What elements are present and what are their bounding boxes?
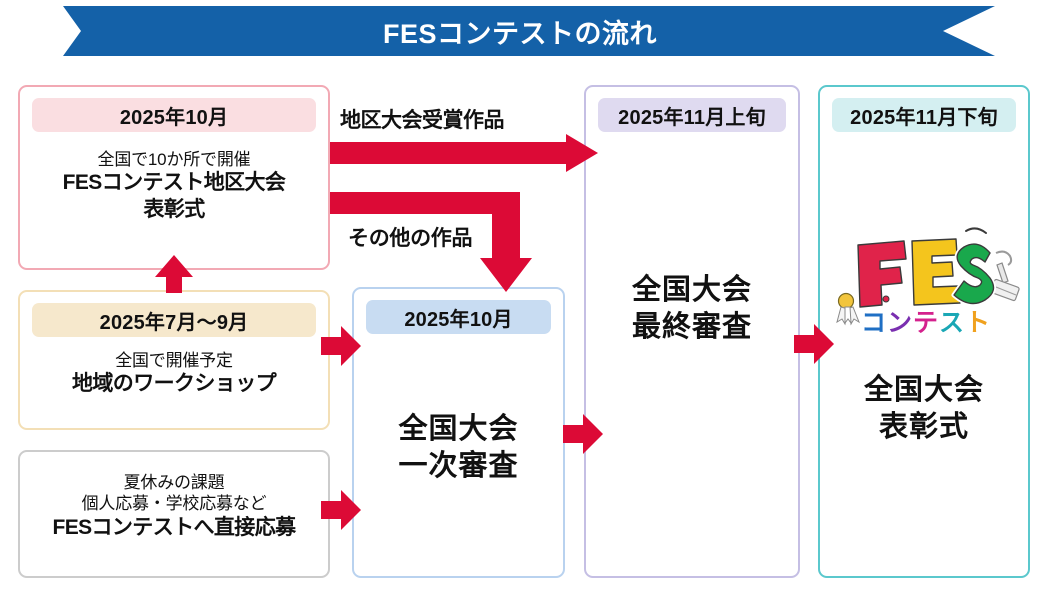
arrow-regional-to-final-review <box>330 134 598 178</box>
card-workshop-body: 全国で開催予定 地域のワークショップ <box>26 350 322 398</box>
card-workshop[interactable]: 2025年7月〜9月 全国で開催予定 地域のワークショップ <box>18 290 330 430</box>
card-regional-date-badge: 2025年10月 <box>32 98 316 132</box>
card-award-ceremony-date-badge: 2025年11月下旬 <box>832 98 1016 132</box>
card-regional-subtitle: 全国で10か所で開催 <box>26 149 322 170</box>
arrow-direct-entry-to-first-review <box>321 490 361 530</box>
card-workshop-title: 地域のワークショップ <box>26 371 322 397</box>
title-banner: FESコンテストの流れ <box>63 6 995 56</box>
arrow-regional-to-first-review <box>330 192 542 292</box>
card-final-review-body: 全国大会 最終審査 <box>592 272 792 345</box>
card-direct-entry-subtitle-line2: 個人応募・学校応募など <box>26 493 322 514</box>
card-workshop-date-badge: 2025年7月〜9月 <box>32 303 316 337</box>
card-regional-body: 全国で10か所で開催 FESコンテスト地区大会 表彰式 <box>26 149 322 223</box>
card-final-review[interactable]: 2025年11月上旬 全国大会 最終審査 <box>584 85 800 578</box>
card-final-review-date-badge: 2025年11月上旬 <box>598 98 786 132</box>
card-award-ceremony-title-line1: 全国大会 <box>826 372 1022 409</box>
card-final-review-title-line2: 最終審査 <box>592 309 792 346</box>
card-first-review[interactable]: 2025年10月 全国大会 一次審査 <box>352 287 565 578</box>
arrow-label-award-works: 地区大会受賞作品 <box>340 104 504 134</box>
fes-contest-logo: コンテスト <box>820 217 1030 347</box>
logo-letter-s <box>954 228 994 303</box>
card-first-review-title-line2: 一次審査 <box>360 448 557 485</box>
card-direct-entry-body: 夏休みの課題 個人応募・学校応募など FESコンテストへ直接応募 <box>26 472 322 541</box>
arrow-first-review-to-final-review <box>563 414 603 454</box>
card-direct-entry-subtitle-line1: 夏休みの課題 <box>26 472 322 493</box>
card-first-review-date-badge: 2025年10月 <box>366 300 551 334</box>
arrow-workshop-to-regional <box>155 255 193 293</box>
card-first-review-body: 全国大会 一次審査 <box>360 411 557 484</box>
trophy-icon <box>990 252 1019 301</box>
card-direct-entry[interactable]: 夏休みの課題 個人応募・学校応募など FESコンテストへ直接応募 <box>18 450 330 578</box>
card-award-ceremony-body: 全国大会 表彰式 <box>826 372 1022 445</box>
card-direct-entry-title: FESコンテストへ直接応募 <box>26 515 322 541</box>
card-award-ceremony[interactable]: 2025年11月下旬 <box>818 85 1030 578</box>
card-final-review-title-line1: 全国大会 <box>592 272 792 309</box>
card-regional-title-line2: 表彰式 <box>26 197 322 223</box>
logo-letter-f <box>858 241 906 307</box>
logo-subtext: コンテスト <box>861 309 991 337</box>
page-title: FESコンテストの流れ <box>63 6 995 56</box>
card-workshop-subtitle: 全国で開催予定 <box>26 350 322 371</box>
card-regional-contest[interactable]: 2025年10月 全国で10か所で開催 FESコンテスト地区大会 表彰式 <box>18 85 330 270</box>
card-first-review-title-line1: 全国大会 <box>360 411 557 448</box>
arrow-final-review-to-ceremony <box>794 324 834 364</box>
arrow-workshop-to-first-review <box>321 326 361 366</box>
card-award-ceremony-title-line2: 表彰式 <box>826 409 1022 446</box>
rosette-icon <box>837 294 859 325</box>
card-regional-title-line1: FESコンテスト地区大会 <box>26 170 322 196</box>
